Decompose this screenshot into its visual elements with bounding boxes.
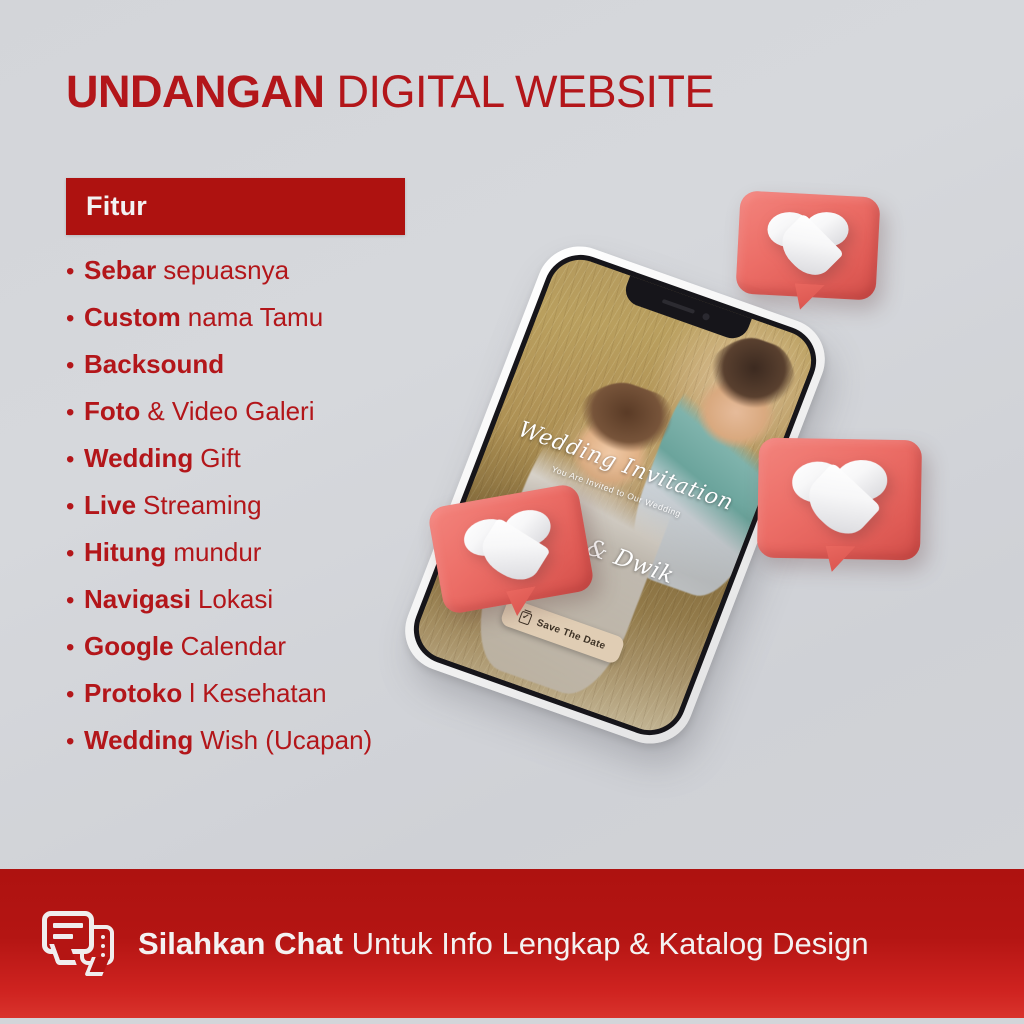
- heart-icon: [460, 504, 561, 589]
- bubble-tail: [793, 283, 824, 311]
- bubble-body: [757, 438, 922, 561]
- bullet-icon: •: [66, 636, 84, 660]
- feature-detail: Calendar: [181, 631, 287, 662]
- feature-detail: Lokasi: [198, 584, 273, 615]
- feature-detail: Streaming: [143, 490, 262, 521]
- earpiece-speaker: [662, 299, 695, 314]
- chat-bubbles-icon: [42, 911, 114, 977]
- feature-item: • Wedding Gift: [66, 443, 496, 490]
- chat-cta-strong: Silahkan Chat: [138, 926, 343, 961]
- poster-canvas: UNDANGAN DIGITAL WEBSITE Fitur • Sebar s…: [0, 0, 1024, 1024]
- chat-cta-regular: Untuk Info Lengkap & Katalog Design: [352, 926, 869, 961]
- chat-bubble-front: [42, 911, 94, 954]
- feature-detail: Wish (Ucapan): [200, 725, 372, 756]
- feature-item: • Sebar sepuasnya: [66, 255, 496, 302]
- heart-bubble-top: [735, 190, 880, 300]
- feature-keyword: Custom: [84, 302, 181, 333]
- feature-detail: Gift: [200, 443, 240, 474]
- page-title-regular: DIGITAL WEBSITE: [337, 66, 715, 117]
- feature-item: • Wedding Wish (Ucapan): [66, 725, 496, 772]
- bullet-icon: •: [66, 354, 84, 378]
- feature-keyword: Wedding: [84, 443, 193, 474]
- feature-keyword: Google: [84, 631, 174, 662]
- feature-detail: sepuasnya: [163, 255, 289, 286]
- feature-keyword: Sebar: [84, 255, 156, 286]
- bottom-edge-strip: [0, 1018, 1024, 1024]
- fitur-badge: Fitur: [66, 178, 405, 235]
- feature-detail: mundur: [173, 537, 261, 568]
- page-title: UNDANGAN DIGITAL WEBSITE: [66, 66, 714, 118]
- bullet-icon: •: [66, 401, 84, 425]
- bullet-icon: •: [66, 589, 84, 613]
- calendar-check-icon: [518, 611, 533, 626]
- page-title-bold: UNDANGAN: [66, 66, 325, 117]
- bullet-icon: •: [66, 448, 84, 472]
- feature-item: • Protoko l Kesehatan: [66, 678, 496, 725]
- feature-detail: nama Tamu: [188, 302, 323, 333]
- feature-item: • Backsound: [66, 349, 496, 396]
- fitur-badge-label: Fitur: [86, 191, 147, 222]
- bullet-icon: •: [66, 683, 84, 707]
- bubble-body: [735, 190, 880, 300]
- heart-bubble-right: [757, 438, 922, 561]
- feature-keyword: Navigasi: [84, 584, 191, 615]
- feature-detail: & Video Galeri: [147, 396, 314, 427]
- bullet-icon: •: [66, 307, 84, 331]
- feature-item: • Custom nama Tamu: [66, 302, 496, 349]
- chat-cta-text: Silahkan Chat Untuk Info Lengkap & Katal…: [138, 926, 869, 962]
- feature-keyword: Wedding: [84, 725, 193, 756]
- feature-keyword: Live: [84, 490, 136, 521]
- chat-cta-banner[interactable]: Silahkan Chat Untuk Info Lengkap & Katal…: [0, 869, 1024, 1018]
- feature-keyword: Hitung: [84, 537, 166, 568]
- heart-icon: [791, 458, 888, 536]
- bullet-icon: •: [66, 730, 84, 754]
- bullet-icon: •: [66, 495, 84, 519]
- bullet-icon: •: [66, 542, 84, 566]
- heart-icon: [768, 212, 849, 276]
- phone-mockup-group: Wedding Invitation You Are Invited to Ou…: [455, 262, 885, 732]
- bullet-icon: •: [66, 260, 84, 284]
- feature-keyword: Foto: [84, 396, 140, 427]
- bubble-tail: [825, 546, 855, 573]
- feature-detail: l Kesehatan: [189, 678, 326, 709]
- feature-keyword: Protoko: [84, 678, 182, 709]
- feature-item: • Foto & Video Galeri: [66, 396, 496, 443]
- front-camera-icon: [702, 312, 711, 321]
- feature-keyword: Backsound: [84, 349, 224, 380]
